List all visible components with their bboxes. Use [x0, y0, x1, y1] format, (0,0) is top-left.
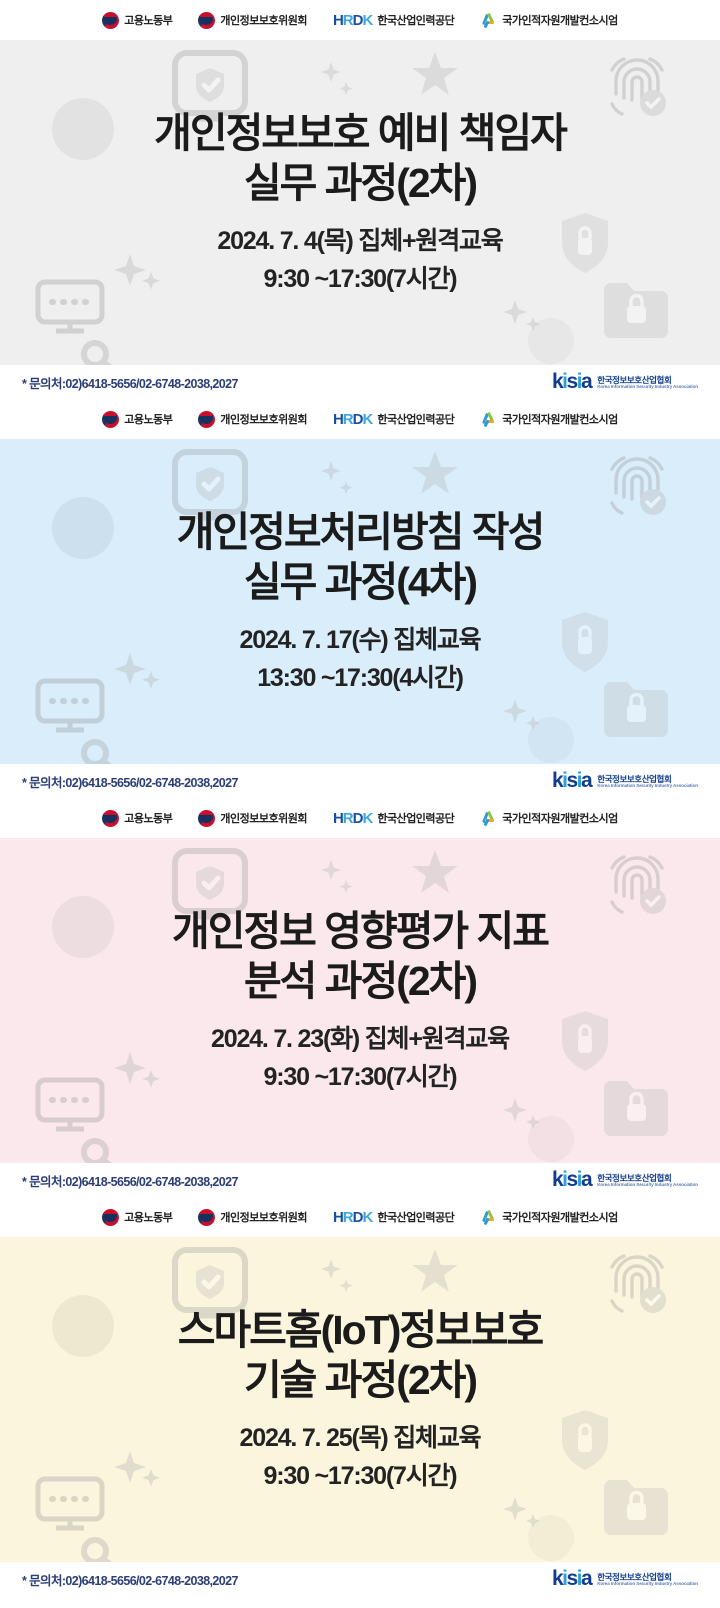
partner-logo-nhrd: 국가인적자원개발컨소시엄: [480, 1209, 617, 1226]
course-title: 개인정보 영향평가 지표 분석 과정(2차): [172, 906, 548, 1006]
partner-logo-moel: 고용노동부: [102, 12, 172, 29]
partner-logo-hrdk: HRDK 한국산업인력공단: [333, 12, 454, 29]
course-title: 개인정보보호 예비 책임자 실무 과정(2차): [154, 108, 566, 208]
course-banner-1: 개인정보보호 예비 책임자 실무 과정(2차) 2024. 7. 4(목) 집체…: [0, 40, 720, 365]
banner-footer: * 문의처:02)6418-5656/02-6748-2038,2027 kis…: [0, 1163, 720, 1197]
course-card-3: 고용노동부 개인정보보호위원회 HRDK 한국산업인력공단 국가인적자원개발컨소…: [0, 798, 720, 1197]
partner-logo-pipc: 개인정보보호위원회: [198, 810, 307, 827]
partner-logo-nhrd: 국가인적자원개발컨소시엄: [480, 12, 617, 29]
course-time-line: 9:30 ~17:30(7시간): [264, 1459, 457, 1495]
taegeuk-emblem-icon: [198, 1209, 215, 1226]
kisia-wordmark: kisia: [552, 1171, 591, 1190]
course-date-line: 2024. 7. 17(수) 집체교육: [240, 623, 481, 659]
banner-footer: * 문의처:02)6418-5656/02-6748-2038,2027 kis…: [0, 1562, 720, 1596]
taegeuk-emblem-icon: [198, 411, 215, 428]
kisia-logo: kisia 한국정보보호산업협회 Korea Information Secur…: [552, 772, 698, 791]
contact-info: * 문의처:02)6418-5656/02-6748-2038,2027: [22, 373, 238, 392]
partner-label-hrdk: 한국산업인력공단: [377, 12, 454, 28]
course-promo-page: 고용노동부 개인정보보호위원회 HRDK 한국산업인력공단 국가인적자원개발컨소…: [0, 0, 720, 1596]
nhrd-consortium-icon: [480, 411, 497, 428]
course-date-line: 2024. 7. 23(화) 집체+원격교육: [211, 1022, 509, 1058]
kisia-wordmark: kisia: [552, 772, 591, 791]
course-time-line: 9:30 ~17:30(7시간): [264, 262, 457, 298]
course-date-line: 2024. 7. 25(목) 집체교육: [240, 1421, 481, 1457]
contact-info: * 문의처:02)6418-5656/02-6748-2038,2027: [22, 1171, 238, 1190]
partner-label-nhrd: 국가인적자원개발컨소시엄: [502, 12, 617, 28]
kisia-name-en: Korea Information Security Industry Asso…: [597, 1582, 698, 1587]
partner-label-moel: 고용노동부: [124, 411, 172, 427]
course-title: 스마트홈(IoT)정보보호 기술 과정(2차): [178, 1305, 543, 1405]
taegeuk-emblem-icon: [102, 411, 119, 428]
kisia-name-en: Korea Information Security Industry Asso…: [597, 784, 698, 789]
course-time-line: 9:30 ~17:30(7시간): [264, 1060, 457, 1096]
partner-logo-moel: 고용노동부: [102, 411, 172, 428]
banner-content: 스마트홈(IoT)정보보호 기술 과정(2차) 2024. 7. 25(목) 집…: [0, 1237, 720, 1562]
partner-label-hrdk: 한국산업인력공단: [377, 411, 454, 427]
partner-label-pipc: 개인정보보호위원회: [220, 12, 307, 28]
partner-label-nhrd: 국가인적자원개발컨소시엄: [502, 411, 617, 427]
course-banner-4: 스마트홈(IoT)정보보호 기술 과정(2차) 2024. 7. 25(목) 집…: [0, 1237, 720, 1562]
banner-footer: * 문의처:02)6418-5656/02-6748-2038,2027 kis…: [0, 365, 720, 399]
kisia-name-block: 한국정보보호산업협회 Korea Information Security In…: [597, 1573, 698, 1588]
kisia-name-en: Korea Information Security Industry Asso…: [597, 1183, 698, 1188]
nhrd-consortium-icon: [480, 12, 497, 29]
partner-logo-pipc: 개인정보보호위원회: [198, 12, 307, 29]
banner-content: 개인정보 영향평가 지표 분석 과정(2차) 2024. 7. 23(화) 집체…: [0, 838, 720, 1163]
partner-logo-strip: 고용노동부 개인정보보호위원회 HRDK 한국산업인력공단 국가인적자원개발컨소…: [0, 399, 720, 439]
hrdk-logo-icon: HRDK: [333, 810, 372, 827]
taegeuk-emblem-icon: [198, 12, 215, 29]
partner-label-moel: 고용노동부: [124, 810, 172, 826]
partner-logo-hrdk: HRDK 한국산업인력공단: [333, 411, 454, 428]
partner-logo-pipc: 개인정보보호위원회: [198, 411, 307, 428]
partner-label-hrdk: 한국산업인력공단: [377, 810, 454, 826]
kisia-name-block: 한국정보보호산업협회 Korea Information Security In…: [597, 775, 698, 790]
kisia-name-en: Korea Information Security Industry Asso…: [597, 385, 698, 390]
partner-logo-strip: 고용노동부 개인정보보호위원회 HRDK 한국산업인력공단 국가인적자원개발컨소…: [0, 1197, 720, 1237]
kisia-wordmark: kisia: [552, 373, 591, 392]
partner-logo-strip: 고용노동부 개인정보보호위원회 HRDK 한국산업인력공단 국가인적자원개발컨소…: [0, 0, 720, 40]
taegeuk-emblem-icon: [102, 12, 119, 29]
kisia-logo: kisia 한국정보보호산업협회 Korea Information Secur…: [552, 373, 698, 392]
course-banner-3: 개인정보 영향평가 지표 분석 과정(2차) 2024. 7. 23(화) 집체…: [0, 838, 720, 1163]
taegeuk-emblem-icon: [102, 1209, 119, 1226]
partner-label-moel: 고용노동부: [124, 12, 172, 28]
partner-logo-moel: 고용노동부: [102, 810, 172, 827]
partner-logo-pipc: 개인정보보호위원회: [198, 1209, 307, 1226]
taegeuk-emblem-icon: [198, 810, 215, 827]
hrdk-logo-icon: HRDK: [333, 411, 372, 428]
banner-content: 개인정보처리방침 작성 실무 과정(4차) 2024. 7. 17(수) 집체교…: [0, 439, 720, 764]
banner-footer: * 문의처:02)6418-5656/02-6748-2038,2027 kis…: [0, 764, 720, 798]
partner-logo-nhrd: 국가인적자원개발컨소시엄: [480, 411, 617, 428]
kisia-name-block: 한국정보보호산업협회 Korea Information Security In…: [597, 376, 698, 391]
course-card-4: 고용노동부 개인정보보호위원회 HRDK 한국산업인력공단 국가인적자원개발컨소…: [0, 1197, 720, 1596]
contact-info: * 문의처:02)6418-5656/02-6748-2038,2027: [22, 1570, 238, 1589]
partner-label-pipc: 개인정보보호위원회: [220, 810, 307, 826]
partner-label-hrdk: 한국산업인력공단: [377, 1209, 454, 1225]
partner-logo-moel: 고용노동부: [102, 1209, 172, 1226]
partner-logo-strip: 고용노동부 개인정보보호위원회 HRDK 한국산업인력공단 국가인적자원개발컨소…: [0, 798, 720, 838]
partner-label-moel: 고용노동부: [124, 1209, 172, 1225]
partner-logo-hrdk: HRDK 한국산업인력공단: [333, 810, 454, 827]
kisia-wordmark: kisia: [552, 1570, 591, 1589]
kisia-logo: kisia 한국정보보호산업협회 Korea Information Secur…: [552, 1171, 698, 1190]
course-banner-2: 개인정보처리방침 작성 실무 과정(4차) 2024. 7. 17(수) 집체교…: [0, 439, 720, 764]
partner-label-nhrd: 국가인적자원개발컨소시엄: [502, 1209, 617, 1225]
kisia-name-block: 한국정보보호산업협회 Korea Information Security In…: [597, 1174, 698, 1189]
partner-logo-hrdk: HRDK 한국산업인력공단: [333, 1209, 454, 1226]
hrdk-logo-icon: HRDK: [333, 1209, 372, 1226]
course-time-line: 13:30 ~17:30(4시간): [257, 661, 463, 697]
partner-logo-nhrd: 국가인적자원개발컨소시엄: [480, 810, 617, 827]
course-date-line: 2024. 7. 4(목) 집체+원격교육: [217, 224, 502, 260]
partner-label-pipc: 개인정보보호위원회: [220, 1209, 307, 1225]
taegeuk-emblem-icon: [102, 810, 119, 827]
partner-label-pipc: 개인정보보호위원회: [220, 411, 307, 427]
partner-label-nhrd: 국가인적자원개발컨소시엄: [502, 810, 617, 826]
contact-info: * 문의처:02)6418-5656/02-6748-2038,2027: [22, 772, 238, 791]
hrdk-logo-icon: HRDK: [333, 12, 372, 29]
nhrd-consortium-icon: [480, 810, 497, 827]
course-card-2: 고용노동부 개인정보보호위원회 HRDK 한국산업인력공단 국가인적자원개발컨소…: [0, 399, 720, 798]
kisia-logo: kisia 한국정보보호산업협회 Korea Information Secur…: [552, 1570, 698, 1589]
course-card-1: 고용노동부 개인정보보호위원회 HRDK 한국산업인력공단 국가인적자원개발컨소…: [0, 0, 720, 399]
course-title: 개인정보처리방침 작성 실무 과정(4차): [177, 507, 544, 607]
banner-content: 개인정보보호 예비 책임자 실무 과정(2차) 2024. 7. 4(목) 집체…: [0, 40, 720, 365]
nhrd-consortium-icon: [480, 1209, 497, 1226]
